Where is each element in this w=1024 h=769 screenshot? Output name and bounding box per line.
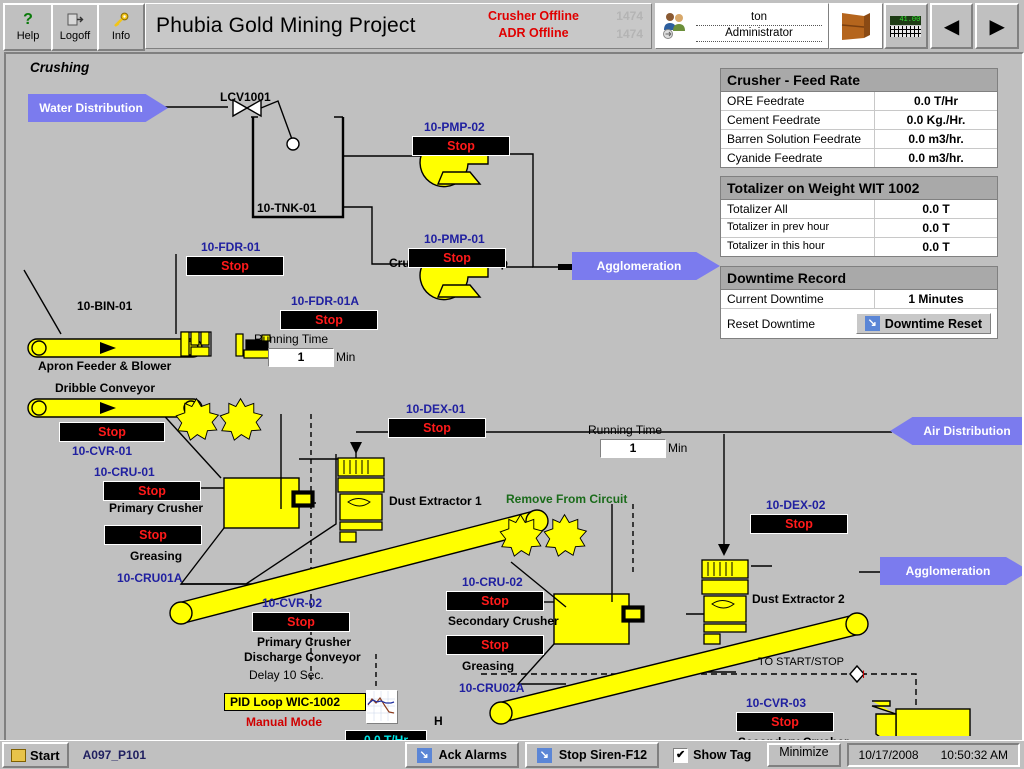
row-label: Barren Solution Feedrate xyxy=(721,130,874,148)
feedrate-panel-title: Crusher - Feed Rate xyxy=(721,69,997,92)
state-10-dex-02[interactable]: Stop xyxy=(750,514,848,534)
reset-downtime-label: Reset Downtime xyxy=(727,315,856,333)
clock-date: 10/17/2008 xyxy=(859,748,919,762)
left-triangle-icon: ◀ xyxy=(944,14,959,39)
label-dust-extractor-2: Dust Extractor 2 xyxy=(752,592,845,606)
tag-10-dex-02: 10-DEX-02 xyxy=(766,498,825,512)
running-time-2-label: Running Time xyxy=(588,423,662,437)
state-10-fdr-01a[interactable]: Stop xyxy=(280,310,378,330)
label-to-start-stop: TO START/STOP xyxy=(758,656,844,668)
row-value: 1 Minutes xyxy=(874,290,997,308)
keypad-display: 41.00 xyxy=(890,16,921,25)
inclined-conveyor-2 xyxy=(490,613,868,724)
running-time-2-value[interactable]: 1 xyxy=(600,439,666,458)
title-panel: Phubia Gold Mining Project Crusher Offli… xyxy=(145,3,652,49)
downtime-reset-label: Downtime Reset xyxy=(885,317,982,331)
row-value: 0.0 T xyxy=(874,238,997,256)
row-label: Totalizer All xyxy=(721,200,874,218)
row-label: Cyanide Feedrate xyxy=(721,149,874,167)
state-10-cvr-03[interactable]: Stop xyxy=(736,712,834,732)
taskbar-app-name[interactable]: A097_P101 xyxy=(83,748,146,762)
arrow-down-right-icon: ↘ xyxy=(417,748,432,763)
nav-next-button[interactable]: ▶ xyxy=(975,3,1019,49)
trend-chart-icon[interactable] xyxy=(366,690,398,724)
flow-arrow-air-distribution[interactable]: Air Distribution xyxy=(890,417,1024,445)
row-value: 0.0 Kg./Hr. xyxy=(874,111,997,129)
tag-10-cvr-02: 10-CVR-02 xyxy=(262,596,322,610)
logoff-button[interactable]: Logoff xyxy=(51,3,99,51)
alarm-summary: Crusher Offline ADR Offline xyxy=(426,8,641,42)
tag-10-cru-01: 10-CRU-01 xyxy=(94,465,155,479)
label-dust-extractor-1: Dust Extractor 1 xyxy=(389,494,482,508)
row-value: 0.0 T xyxy=(874,200,997,218)
tag-10-pmp-01: 10-PMP-01 xyxy=(424,232,485,246)
row-label: Totalizer in this hour xyxy=(721,238,874,256)
table-row: Totalizer in prev hour 0.0 T xyxy=(721,219,997,238)
flow-arrow-label: Air Distribution xyxy=(923,424,1010,438)
alarm-count-1: 1474 xyxy=(616,9,643,23)
running-time-1-value[interactable]: 1 xyxy=(268,348,334,367)
row-label: Current Downtime xyxy=(721,290,874,308)
feedrate-panel: Crusher - Feed Rate ORE Feedrate 0.0 T/H… xyxy=(720,68,998,168)
row-label: Cement Feedrate xyxy=(721,111,874,129)
flow-arrow-agglomeration-top[interactable]: Agglomeration xyxy=(572,252,720,280)
arrow-down-right-icon: ↘ xyxy=(865,316,880,331)
tag-10-fdr-01: 10-FDR-01 xyxy=(201,240,260,254)
minimize-button[interactable]: Minimize xyxy=(767,743,840,767)
show-tag-label: Show Tag xyxy=(693,748,751,762)
keypad-button[interactable]: 41.00 xyxy=(884,3,928,49)
stop-siren-label: Stop Siren-F12 xyxy=(559,748,647,762)
pid-loop-mode: Manual Mode xyxy=(246,715,322,729)
tag-10-fdr-01a: 10-FDR-01A xyxy=(291,294,359,308)
table-row: Cement Feedrate 0.0 Kg./Hr. xyxy=(721,111,997,130)
label-pcdc-2: Discharge Conveyor xyxy=(244,650,361,664)
state-10-cvr-01[interactable]: Stop xyxy=(59,422,165,442)
info-button[interactable]: Info xyxy=(97,3,145,51)
users-icon xyxy=(656,10,696,43)
ack-alarms-button[interactable]: ↘ Ack Alarms xyxy=(405,742,519,768)
state-10-cvr-02[interactable]: Stop xyxy=(252,612,350,632)
state-10-pmp-01[interactable]: Stop xyxy=(408,248,506,268)
table-row: Totalizer All 0.0 T xyxy=(721,200,997,219)
downtime-panel: Downtime Record Current Downtime 1 Minut… xyxy=(720,266,998,339)
tag-10-pmp-02: 10-PMP-02 xyxy=(424,120,485,134)
label-greasing-secondary: Greasing xyxy=(462,659,514,673)
tag-10-cru02a: 10-CRU02A xyxy=(459,681,524,695)
state-10-cru-02[interactable]: Stop xyxy=(446,591,544,611)
stop-siren-button[interactable]: ↘ Stop Siren-F12 xyxy=(525,742,659,768)
question-mark-icon: ? xyxy=(23,12,33,30)
logoff-icon xyxy=(67,12,84,30)
page-title: Phubia Gold Mining Project xyxy=(156,14,416,38)
dust-extractor-1-symbol xyxy=(338,442,384,542)
minimize-label: Minimize xyxy=(779,745,828,759)
mimic-diagram: I xyxy=(4,52,1024,742)
checkbox-icon: ✔ xyxy=(673,748,688,763)
label-bin: 10-BIN-01 xyxy=(77,299,132,313)
state-10-fdr-01[interactable]: Stop xyxy=(186,256,284,276)
right-triangle-icon: ▶ xyxy=(989,14,1004,39)
dust-extractor-2-symbol xyxy=(702,544,748,644)
arrow-down-right-icon: ↘ xyxy=(537,748,552,763)
drum-agglomerator-symbol xyxy=(872,701,970,736)
state-10-pmp-02[interactable]: Stop xyxy=(412,136,510,156)
label-lcv1001: LCV1001 xyxy=(220,90,271,104)
user-role: Administrator xyxy=(696,26,822,42)
user-name: ton xyxy=(696,10,822,26)
alarm-count-2: 1474 xyxy=(616,27,643,41)
downtime-reset-row: Reset Downtime ↘ Downtime Reset xyxy=(721,309,997,338)
svg-text:I: I xyxy=(862,669,865,681)
state-10-cru02a[interactable]: Stop xyxy=(446,635,544,655)
info-button-label: Info xyxy=(112,30,130,42)
state-10-cru01a[interactable]: Stop xyxy=(104,525,202,545)
row-value: 0.0 T/Hr xyxy=(874,92,997,110)
clock-time: 10:50:32 AM xyxy=(941,748,1008,762)
pid-loop-tag[interactable]: PID Loop WIC-1002 xyxy=(224,693,366,711)
folder-button[interactable] xyxy=(829,3,883,49)
flow-arrow-label: Agglomeration xyxy=(906,564,991,578)
totalizer-panel-title: Totalizer on Weight WIT 1002 xyxy=(721,177,997,200)
windows-logo-icon xyxy=(11,749,26,762)
scada-screen: ? Help Logoff Info Phubia Gold Mining Pr… xyxy=(0,0,1024,768)
tag-10-cvr-01: 10-CVR-01 xyxy=(72,444,132,458)
table-row: Current Downtime 1 Minutes xyxy=(721,290,997,309)
label-pcdc-1: Primary Crusher xyxy=(257,635,351,649)
nav-panel: 41.00 ◀ ▶ xyxy=(884,3,1021,47)
table-row: ORE Feedrate 0.0 T/Hr xyxy=(721,92,997,111)
flow-arrow-agglomeration-bottom[interactable]: Agglomeration xyxy=(880,557,1024,585)
row-value: 0.0 T xyxy=(874,219,997,237)
section-title: Crushing xyxy=(30,60,89,75)
running-time-1-label: Running Time xyxy=(254,332,328,346)
alarm-line-crusher: Crusher Offline xyxy=(426,8,641,25)
nav-prev-button[interactable]: ◀ xyxy=(930,3,974,49)
folder-icon xyxy=(838,10,874,42)
flow-arrow-label: Water Distribution xyxy=(39,101,143,115)
tag-10-cvr-03: 10-CVR-03 xyxy=(746,696,806,710)
show-tag-checkbox[interactable]: ✔ Show Tag xyxy=(673,748,751,763)
table-row: Cyanide Feedrate 0.0 m3/hr. xyxy=(721,149,997,167)
running-time-2-unit: Min xyxy=(668,441,687,455)
downtime-panel-title: Downtime Record xyxy=(721,267,997,290)
pump-symbol xyxy=(420,140,488,300)
running-time-1-unit: Min xyxy=(336,350,355,364)
help-button-label: Help xyxy=(17,30,40,42)
conveyor-symbol xyxy=(28,339,202,417)
flow-arrow-label: Agglomeration xyxy=(597,259,682,273)
state-10-cru-01[interactable]: Stop xyxy=(103,481,201,501)
label-dribble-conveyor: Dribble Conveyor xyxy=(55,381,155,395)
user-panel[interactable]: ton Administrator xyxy=(655,3,829,49)
help-button[interactable]: ? Help xyxy=(3,3,53,51)
logoff-button-label: Logoff xyxy=(60,30,90,42)
downtime-reset-button[interactable]: ↘ Downtime Reset xyxy=(856,313,991,334)
clock: 10/17/2008 10:50:32 AM xyxy=(847,743,1020,767)
keypad-icon xyxy=(890,26,921,37)
label-secondary-crusher: Secondary Crusher xyxy=(448,614,559,628)
motor-symbol xyxy=(181,332,644,622)
tag-10-dex-01: 10-DEX-01 xyxy=(406,402,465,416)
label-tank: 10-TNK-01 xyxy=(257,201,316,215)
header-bar: ? Help Logoff Info Phubia Gold Mining Pr… xyxy=(0,0,1024,50)
table-row: Totalizer in this hour 0.0 T xyxy=(721,238,997,256)
start-button[interactable]: Start xyxy=(2,742,69,768)
key-icon xyxy=(112,12,130,30)
label-pcdc-delay: Delay 10 Sec. xyxy=(249,668,324,682)
tag-10-cru-02: 10-CRU-02 xyxy=(462,575,523,589)
pid-hi-label: H xyxy=(434,714,443,728)
state-10-dex-01[interactable]: Stop xyxy=(388,418,486,438)
row-label: Totalizer in prev hour xyxy=(721,219,874,237)
flow-arrow-water-distribution[interactable]: Water Distribution xyxy=(28,94,168,122)
tag-10-cru01a: 10-CRU01A xyxy=(117,571,182,585)
row-value: 0.0 m3/hr. xyxy=(874,130,997,148)
label-primary-crusher: Primary Crusher xyxy=(109,501,203,515)
start-button-label: Start xyxy=(30,748,60,763)
label-apron-feeder: Apron Feeder & Blower xyxy=(38,359,171,373)
taskbar: Start A097_P101 ↘ Ack Alarms ↘ Stop Sire… xyxy=(0,740,1024,769)
row-value: 0.0 m3/hr. xyxy=(874,149,997,167)
ack-alarms-label: Ack Alarms xyxy=(439,748,507,762)
row-label: ORE Feedrate xyxy=(721,92,874,110)
table-row: Barren Solution Feedrate 0.0 m3/hr. xyxy=(721,130,997,149)
totalizer-panel: Totalizer on Weight WIT 1002 Totalizer A… xyxy=(720,176,998,257)
label-remove-from-circuit: Remove From Circuit xyxy=(506,492,627,506)
label-greasing-primary: Greasing xyxy=(130,549,182,563)
alarm-line-adr: ADR Offline xyxy=(426,25,641,42)
